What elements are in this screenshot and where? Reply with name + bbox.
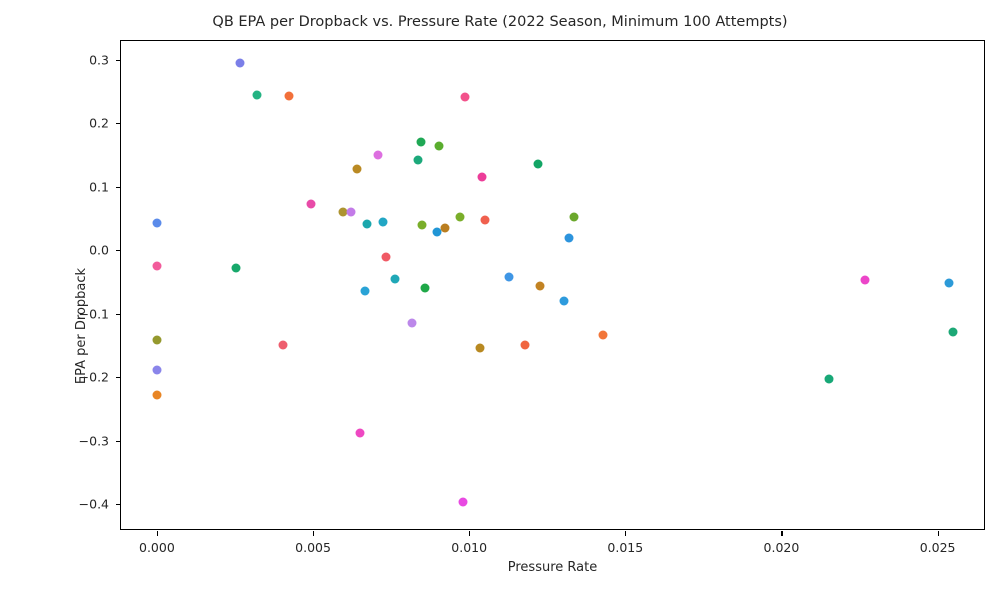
data-point — [569, 212, 578, 221]
plot-area: 0.0000.0050.0100.0150.0200.025 −0.4−0.3−… — [120, 40, 985, 530]
data-point — [458, 498, 467, 507]
data-point — [521, 341, 530, 350]
data-point — [534, 160, 543, 169]
data-point — [152, 262, 161, 271]
data-point — [152, 390, 161, 399]
data-point — [152, 335, 161, 344]
data-point — [346, 208, 355, 217]
x-tick-label: 0.000 — [139, 540, 175, 555]
y-tick-mark — [116, 504, 121, 505]
data-point — [253, 90, 262, 99]
y-tick-label: 0.1 — [89, 179, 109, 194]
data-point — [505, 272, 514, 281]
data-point — [307, 200, 316, 209]
data-point — [416, 137, 425, 146]
data-point — [408, 319, 417, 328]
data-point — [536, 282, 545, 291]
data-point — [599, 331, 608, 340]
data-point — [434, 141, 443, 150]
x-tick-label: 0.025 — [920, 540, 956, 555]
data-point — [559, 296, 568, 305]
scatter-chart-figure: QB EPA per Dropback vs. Pressure Rate (2… — [0, 0, 1000, 600]
data-point — [363, 220, 372, 229]
data-point — [285, 91, 294, 100]
data-point — [824, 374, 833, 383]
y-tick-label: 0.3 — [89, 52, 109, 67]
data-point — [565, 233, 574, 242]
y-tick-mark — [116, 314, 121, 315]
y-tick-label: −0.4 — [79, 497, 109, 512]
data-point — [374, 151, 383, 160]
y-axis-label: EPA per Dropback — [74, 268, 89, 384]
x-tick-label: 0.020 — [764, 540, 800, 555]
y-tick-mark — [116, 441, 121, 442]
y-tick-mark — [116, 250, 121, 251]
data-point — [440, 223, 449, 232]
data-point — [456, 212, 465, 221]
data-point — [861, 276, 870, 285]
y-tick-mark — [116, 123, 121, 124]
y-tick-mark — [116, 187, 121, 188]
data-point — [477, 173, 486, 182]
data-point — [381, 253, 390, 262]
x-tick-mark — [938, 531, 939, 536]
y-tick-label: 0.2 — [89, 116, 109, 131]
data-point — [152, 366, 161, 375]
y-tick-label: −0.3 — [79, 433, 109, 448]
data-point — [944, 279, 953, 288]
x-tick-mark — [781, 531, 782, 536]
data-point — [418, 221, 427, 230]
data-point — [152, 218, 161, 227]
x-axis-label: Pressure Rate — [120, 560, 985, 575]
x-tick-mark — [157, 531, 158, 536]
x-tick-mark — [469, 531, 470, 536]
data-point — [420, 284, 429, 293]
data-point — [476, 344, 485, 353]
x-tick-label: 0.010 — [451, 540, 487, 555]
data-point — [279, 341, 288, 350]
x-tick-mark — [625, 531, 626, 536]
y-tick-label: 0.0 — [89, 243, 109, 258]
data-point — [413, 155, 422, 164]
chart-title: QB EPA per Dropback vs. Pressure Rate (2… — [0, 14, 1000, 30]
data-point — [355, 428, 364, 437]
x-tick-mark — [313, 531, 314, 536]
data-point — [390, 275, 399, 284]
data-point — [948, 328, 957, 337]
data-point — [353, 164, 362, 173]
data-point — [480, 216, 489, 225]
y-tick-mark — [116, 377, 121, 378]
data-point — [379, 217, 388, 226]
data-point — [231, 263, 240, 272]
y-tick-mark — [116, 60, 121, 61]
x-tick-label: 0.005 — [295, 540, 331, 555]
data-point — [460, 93, 469, 102]
x-tick-label: 0.015 — [607, 540, 643, 555]
data-point — [361, 286, 370, 295]
data-point — [235, 58, 244, 67]
